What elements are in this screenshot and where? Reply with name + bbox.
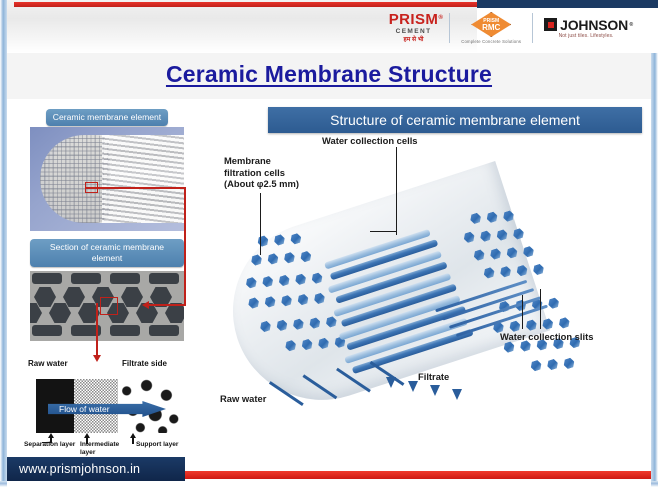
filtration-cell [259, 320, 273, 333]
photo2-zoom-marker [100, 297, 118, 315]
filtration-cell [529, 359, 543, 372]
layer-caption-row: Separation layer Intermediate layer Supp… [24, 441, 196, 457]
footer-white-strip [7, 481, 651, 487]
leader-water-collection-cells-tip [370, 231, 397, 232]
section-hex-cell [30, 303, 42, 323]
filtration-cell [308, 317, 322, 330]
connector-v-photo3 [96, 303, 98, 357]
right-diagram-column: Structure of ceramic membrane element [200, 103, 642, 449]
filtration-cell [263, 295, 277, 308]
filtration-cell [296, 293, 310, 306]
filtration-cell [261, 275, 275, 288]
filtration-cell [546, 358, 560, 371]
johnson-tm: ® [630, 18, 633, 32]
filtrate-arrow [408, 381, 418, 392]
photo-layer-micrograph: Flow of water [30, 371, 184, 433]
johnson-word-text: JOHNSON [560, 17, 628, 33]
photo1-cylinder-end-face [40, 135, 110, 223]
section-slit [32, 325, 62, 336]
title-band: Ceramic Membrane Structure [7, 53, 651, 99]
filtration-cell [292, 318, 306, 331]
section-slit [149, 325, 179, 336]
footer-red-bar [185, 471, 651, 479]
filtration-cell [489, 248, 503, 261]
photo-membrane-cross-section [30, 271, 184, 341]
filtration-cell [462, 231, 476, 244]
filtration-cell [247, 297, 261, 310]
label-ceramic-membrane-element: Ceramic membrane element [30, 107, 184, 126]
filtration-cell [310, 272, 324, 285]
filtration-cell [472, 249, 486, 262]
connector-h-photo2 [148, 304, 186, 306]
label-filtrate: Filtrate [418, 371, 449, 383]
johnson-word-text-wrap: JOHNSON® [560, 18, 628, 32]
prism-cement-logo: PRISM® CEMENT हम से भी [378, 9, 450, 47]
filtration-cell [482, 266, 496, 279]
header-red-rule [14, 2, 477, 7]
leader-water-collection-slits-1 [522, 295, 523, 329]
label-raw-water: Raw water [220, 393, 266, 405]
prism-cement-subword: CEMENT [396, 27, 432, 36]
johnson-square-icon [544, 18, 557, 31]
leader-water-collection-cells [396, 147, 397, 235]
label-water-collection-slits: Water collection slits [500, 331, 593, 343]
raw-water-arrow-shaft [336, 368, 371, 393]
label-water-collection-cells: Water collection cells [322, 135, 418, 147]
label-ceramic-membrane-element-text: Ceramic membrane element [46, 109, 168, 126]
filtration-cell [245, 276, 259, 289]
johnson-tagline: Not just tiles. Lifestyles. [559, 33, 614, 39]
rmc-line2: RMC [482, 24, 500, 32]
section-slit [71, 273, 101, 284]
section-slit [110, 273, 140, 284]
header-navy-rule [477, 0, 658, 8]
raw-water-arrow-shaft [302, 374, 337, 399]
connector-arrow-to-section [142, 301, 149, 309]
filtration-cell [299, 250, 313, 263]
connector-v-photo1 [184, 187, 186, 305]
diagram-heading: Structure of ceramic membrane element [268, 107, 642, 133]
section-slit [110, 325, 140, 336]
filtration-cell [280, 294, 294, 307]
filtration-cell [562, 357, 576, 370]
label-membrane-filtration-cells-line1: Membrane [224, 155, 320, 167]
ceramic-membrane-3d-illustration [230, 165, 632, 433]
johnson-logo: JOHNSON® Not just tiles. Lifestyles. [533, 9, 639, 47]
connector-h-photo1 [86, 187, 186, 189]
prism-cement-wordmark: PRISM® [389, 12, 439, 27]
filtrate-arrow [386, 377, 396, 388]
caption-intermediate-layer: Intermediate layer [80, 441, 136, 457]
filtration-cell [256, 235, 270, 248]
footer-website-url: www.prismjohnson.in [7, 457, 185, 481]
filtration-cell [300, 338, 314, 351]
filtration-cell [317, 337, 331, 350]
filtration-cell [505, 246, 519, 259]
filtration-cell [502, 210, 516, 223]
photo-ceramic-membrane-element [30, 127, 184, 231]
layer-tick-marks [18, 431, 190, 441]
caption-filtrate-side: Filtrate side [122, 359, 167, 368]
filtrate-arrow [452, 389, 462, 400]
filtration-cell [495, 229, 509, 242]
flow-of-water-label: Flow of water [48, 404, 110, 414]
raw-water-arrow-shaft [269, 381, 304, 406]
caption-support-layer: Support layer [136, 441, 192, 457]
caption-raw-water: Raw water [28, 359, 68, 368]
page-title: Ceramic Membrane Structure [7, 61, 651, 88]
slide-header: PRISM® CEMENT हम से भी PRISM RMC Complet… [7, 0, 651, 53]
filtrate-arrow [430, 385, 440, 396]
caption-separation-layer: Separation layer [24, 441, 80, 457]
slide-canvas: PRISM® CEMENT हम से भी PRISM RMC Complet… [0, 0, 658, 487]
filtration-cell [325, 315, 339, 328]
section-slit [32, 273, 62, 284]
rmc-tagline: Complete Concrete Solutions [461, 39, 521, 44]
photo1-cylinder-ridges [102, 135, 184, 223]
filtration-cell [512, 227, 526, 240]
section-slit-row-bottom [32, 325, 179, 336]
filtration-cell [469, 212, 483, 225]
filtration-cell [275, 319, 289, 332]
left-photo-column: Ceramic membrane element Section of cera… [18, 103, 196, 449]
section-hex-cell [165, 303, 184, 323]
prism-cement-tm: ® [438, 11, 443, 26]
filtration-cell [289, 232, 303, 245]
prism-rmc-logo: PRISM RMC Complete Concrete Solutions [450, 9, 532, 47]
frame-right-edge [651, 0, 658, 487]
filtration-cell [294, 273, 308, 286]
leader-membrane-filtration-cells [260, 193, 261, 255]
filtration-cell [277, 274, 291, 287]
frame-left-edge [0, 0, 7, 487]
section-hex-cell [49, 303, 71, 323]
filtration-cell [515, 264, 529, 277]
label-membrane-filtration-cells: Membrane filtration cells (About φ2.5 mm… [224, 155, 320, 190]
brand-logo-group: PRISM® CEMENT हम से भी PRISM RMC Complet… [378, 8, 639, 48]
rmc-diamond-icon: PRISM RMC [471, 12, 511, 37]
slide-content: Ceramic membrane element Section of cera… [18, 103, 642, 449]
leader-water-collection-slits-2 [540, 289, 541, 329]
filtration-cell [313, 292, 327, 305]
filtration-cell [273, 234, 287, 247]
filtration-cell [250, 254, 264, 267]
label-section-text: Section of ceramic membrane element [30, 239, 184, 267]
section-slit [149, 273, 179, 284]
filtration-cell [485, 211, 499, 224]
prism-cement-hindi-tagline: हम से भी [404, 36, 424, 44]
label-section-of-ceramic-membrane-element: Section of ceramic membrane element [30, 239, 184, 267]
johnson-wordmark-row: JOHNSON® [544, 18, 628, 32]
label-membrane-filtration-cells-line2: filtration cells [224, 167, 320, 179]
section-slit-row-top [32, 273, 179, 284]
label-membrane-filtration-cells-line3: (About φ2.5 mm) [224, 178, 320, 190]
filtration-cell [284, 339, 298, 352]
connector-arrow-to-layers [93, 355, 101, 362]
filtration-cell [479, 230, 493, 243]
filtration-cell [283, 251, 297, 264]
filtration-cell [522, 245, 536, 258]
filtration-cell [499, 265, 513, 278]
filtration-cell [266, 252, 280, 265]
prism-cement-word-text: PRISM [389, 11, 439, 28]
